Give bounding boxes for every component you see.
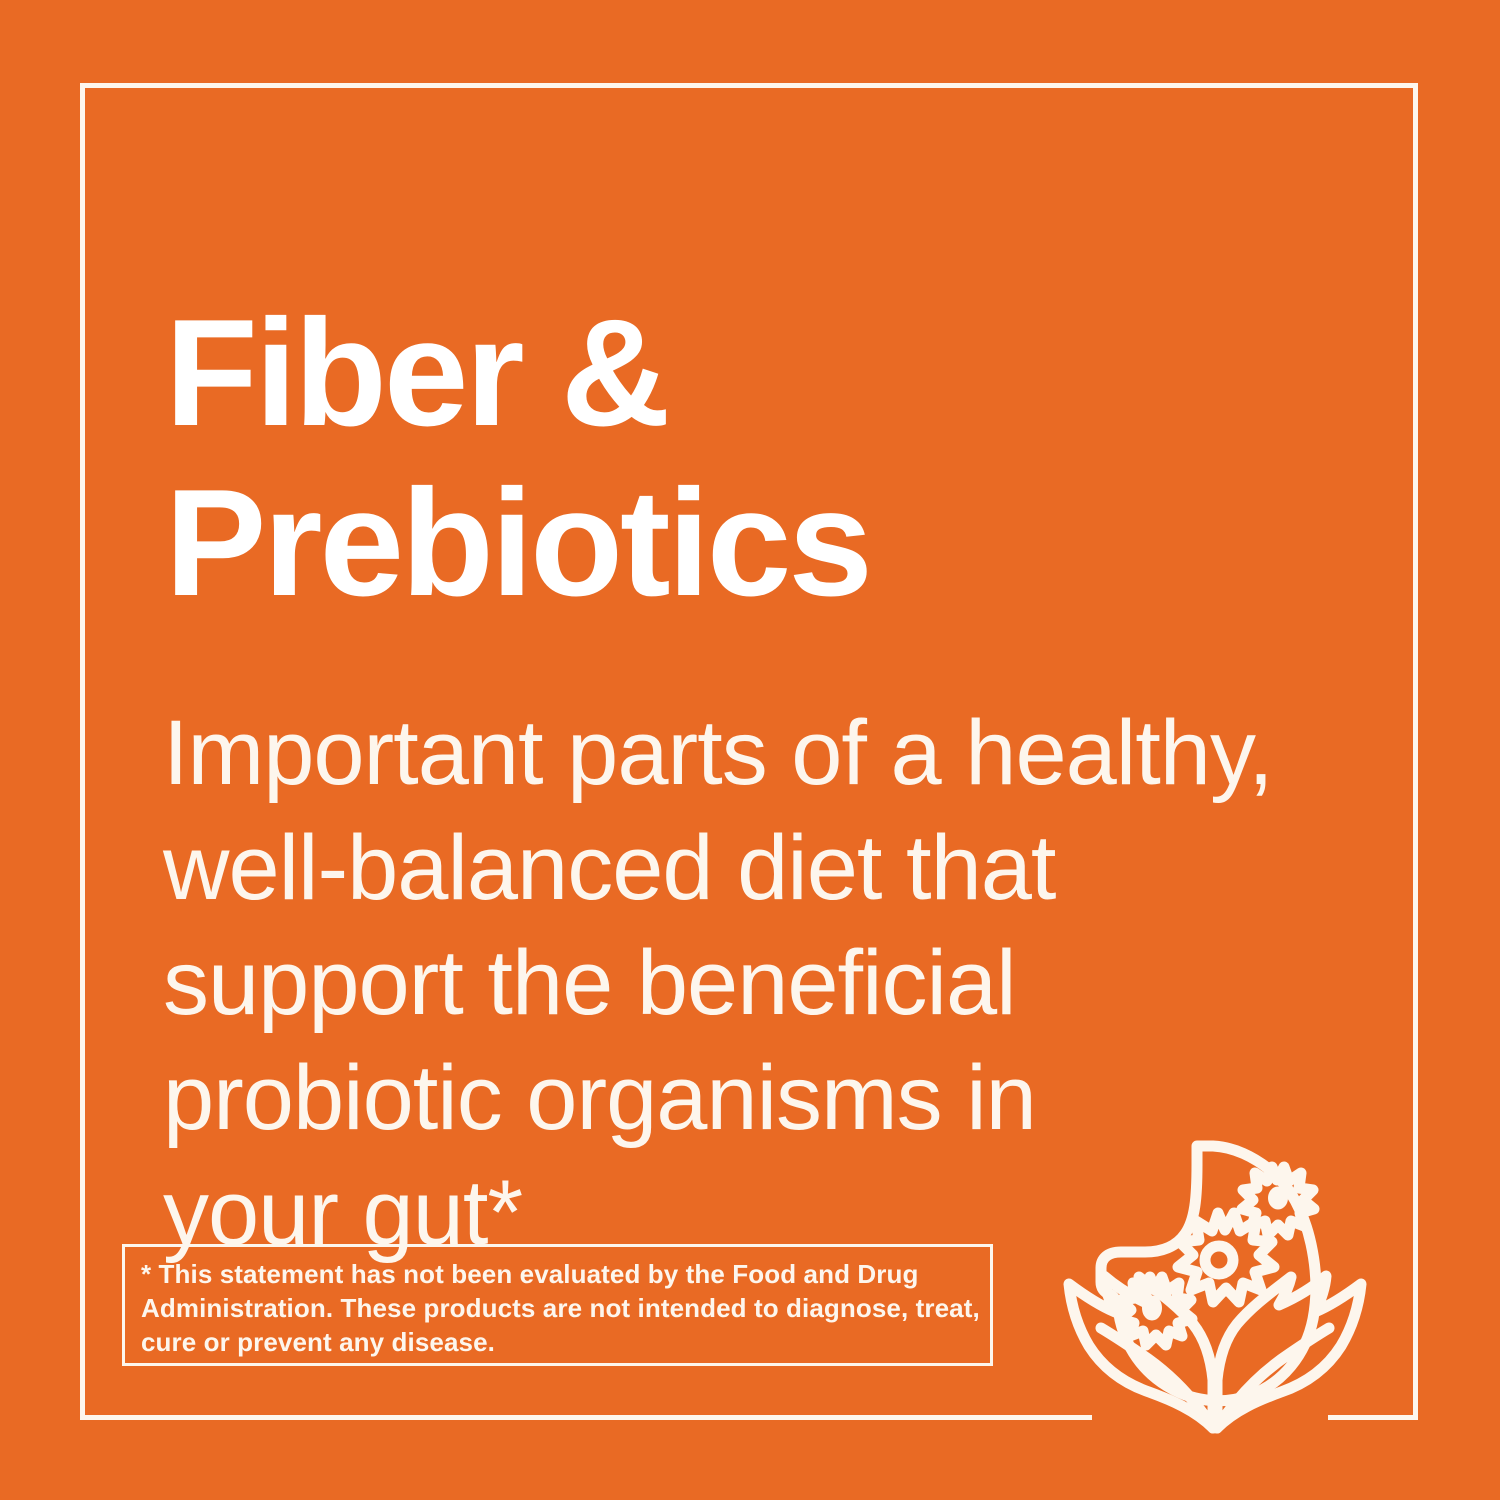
disclaimer-box: * This statement has not been evaluated … [122, 1244, 993, 1366]
frame-left-line [80, 83, 85, 1420]
frame-top-line [80, 83, 1418, 88]
disclaimer-text: * This statement has not been evaluated … [141, 1257, 981, 1359]
page-title: Fiber & Prebiotics [165, 288, 1345, 628]
poster-canvas: Fiber & Prebiotics Important parts of a … [0, 0, 1500, 1500]
frame-right-line [1413, 83, 1418, 1420]
frame-bottom-left-line [80, 1415, 1092, 1420]
stomach-with-probiotics-on-leaves-icon [1045, 1128, 1385, 1448]
